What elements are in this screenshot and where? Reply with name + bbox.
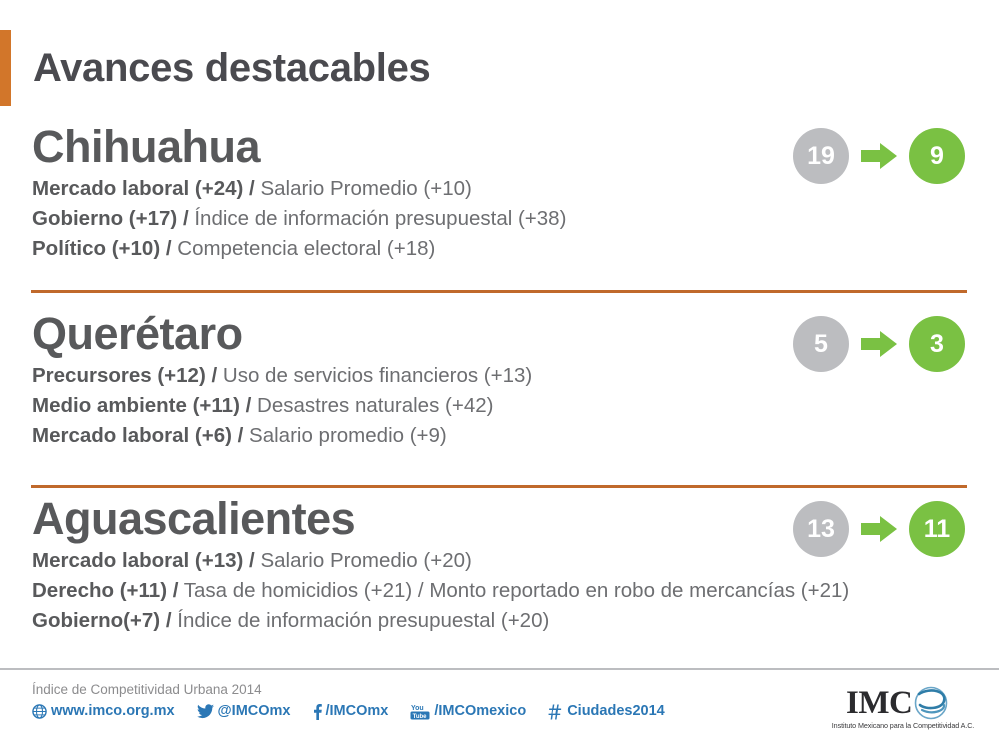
rank-before-badge: 5 [793,316,849,372]
detail-text: Tasa de homicidios (+21) / Monto reporta… [184,579,849,602]
imco-logo-mark: IMC [844,684,962,720]
facebook-icon [313,704,322,720]
footer-caption: Índice de Competitividad Urbana 2014 [32,682,732,698]
detail-text: Salario promedio (+9) [249,424,447,447]
footer-divider [0,668,999,670]
section-divider [31,485,967,488]
youtube-icon: You Tube [410,703,430,720]
rank-after-badge: 3 [909,316,965,372]
arrow-right-icon [861,141,897,171]
page-title: Avances destacables [33,48,431,88]
detail-category: Gobierno (+17) [32,207,177,230]
detail-category: Medio ambiente (+11) [32,394,240,417]
detail-separator: / [249,177,255,200]
rank-after-badge: 11 [909,501,965,557]
social-link-hashtag[interactable]: Ciudades2014 [548,704,665,720]
rank-change-group: 19 9 [793,128,965,184]
detail-category: Político (+10) [32,237,160,260]
social-links: www.imco.org.mx @IMCOmx /IMCOmx You [32,703,732,720]
globe-icon [32,704,47,719]
detail-line: Derecho (+11) / Tasa de homicidios (+21)… [32,576,967,606]
arrow-right-icon [861,514,897,544]
detail-category: Mercado laboral (+24) [32,177,243,200]
detail-separator: / [249,549,255,572]
orange-accent-bar [0,30,11,106]
detail-text: Índice de información presupuestal (+20) [177,609,549,632]
social-label: www.imco.org.mx [51,704,175,719]
detail-separator: / [166,609,172,632]
hashtag-icon [548,704,563,720]
detail-separator: / [246,394,252,417]
detail-line: Mercado laboral (+6) / Salario promedio … [32,421,967,451]
imco-logo: IMC Instituto Mexicano para la Competiti… [828,684,978,730]
slide-header: Avances destacables [0,30,999,106]
imco-tagline: Instituto Mexicano para la Competitivida… [828,721,978,730]
social-link-youtube[interactable]: You Tube /IMCOmexico [410,703,526,720]
detail-separator: / [211,364,217,387]
rank-change-group: 5 3 [793,316,965,372]
detail-line: Político (+10) / Competencia electoral (… [32,234,967,264]
detail-line: Medio ambiente (+11) / Desastres natural… [32,391,967,421]
rank-after-badge: 9 [909,128,965,184]
social-link-twitter[interactable]: @IMCOmx [197,704,291,719]
social-label: /IMCOmexico [434,704,526,719]
detail-separator: / [173,579,179,602]
detail-line: Gobierno(+7) / Índice de información pre… [32,606,967,636]
social-label: @IMCOmx [218,704,291,719]
detail-text: Competencia electoral (+18) [177,237,435,260]
section-divider [31,290,967,293]
detail-text: Salario Promedio (+20) [260,549,471,572]
detail-text: Salario Promedio (+10) [260,177,471,200]
detail-category: Precursores (+12) [32,364,206,387]
svg-text:Tube: Tube [413,714,428,720]
social-label: Ciudades2014 [567,704,665,719]
rank-before-badge: 13 [793,501,849,557]
detail-text: Uso de servicios financieros (+13) [223,364,532,387]
detail-separator: / [166,237,172,260]
rank-change-group: 13 11 [793,501,965,557]
detail-category: Gobierno(+7) [32,609,160,632]
detail-text: Índice de información presupuestal (+38) [194,207,566,230]
detail-category: Mercado laboral (+13) [32,549,243,572]
svg-text:IMC: IMC [846,685,912,720]
arrow-right-icon [861,329,897,359]
detail-separator: / [183,207,189,230]
detail-category: Mercado laboral (+6) [32,424,232,447]
rank-before-badge: 19 [793,128,849,184]
detail-line: Gobierno (+17) / Índice de información p… [32,204,967,234]
detail-category: Derecho (+11) [32,579,167,602]
detail-text: Desastres naturales (+42) [257,394,493,417]
svg-text:You: You [411,705,424,712]
detail-separator: / [238,424,244,447]
footer: Índice de Competitividad Urbana 2014 www… [32,682,732,720]
social-label: /IMCOmx [326,704,389,719]
social-link-facebook[interactable]: /IMCOmx [313,704,389,720]
twitter-icon [197,704,214,719]
social-link-website[interactable]: www.imco.org.mx [32,704,175,719]
